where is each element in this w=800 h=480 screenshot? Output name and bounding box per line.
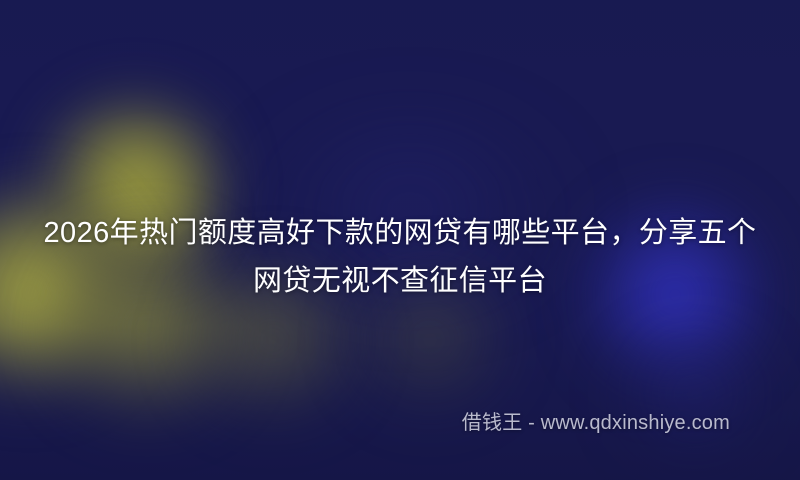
banner-headline: 2026年热门额度高好下款的网贷有哪些平台，分享五个网贷无视不查征信平台 [0, 209, 800, 305]
site-watermark: 借钱王 - www.qdxinshiye.com [462, 406, 730, 435]
promo-banner: 2026年热门额度高好下款的网贷有哪些平台，分享五个网贷无视不查征信平台 借钱王… [0, 0, 800, 480]
